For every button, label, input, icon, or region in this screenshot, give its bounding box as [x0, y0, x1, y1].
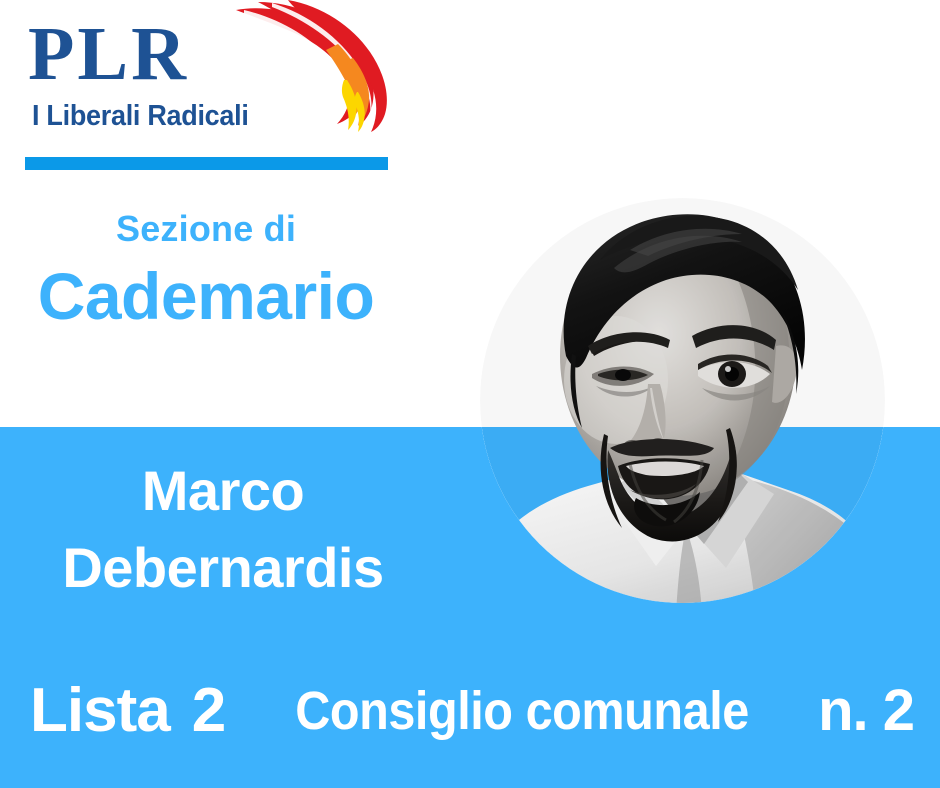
candidate-name: Marco Debernardis	[0, 452, 446, 607]
plr-wordmark: PLR	[28, 16, 189, 92]
list-label: Lista	[30, 680, 170, 742]
campaign-poster: PLR I Liberali Radicali Sezione di Cadem…	[0, 0, 940, 788]
portrait-photo-black-and-white	[480, 198, 885, 603]
plr-logo: PLR I Liberali Radicali	[0, 0, 420, 180]
plr-tagline: I Liberali Radicali	[32, 102, 249, 131]
blue-rule-divider	[25, 157, 388, 170]
list-group: Lista 2	[30, 680, 226, 742]
candidate-photo	[480, 198, 885, 603]
flame-icon	[222, 0, 392, 132]
candidate-first-name: Marco	[0, 452, 446, 529]
candidate-number-label: n. 2	[818, 682, 914, 740]
ballot-info-strip: Lista 2 Consiglio comunale n. 2	[0, 668, 940, 754]
list-number: 2	[192, 680, 226, 742]
candidate-last-name: Debernardis	[0, 529, 446, 606]
section-name-label: Cademario	[0, 262, 412, 331]
council-body-label: Consiglio comunale	[295, 684, 749, 738]
section-prefix-label: Sezione di	[0, 208, 412, 250]
